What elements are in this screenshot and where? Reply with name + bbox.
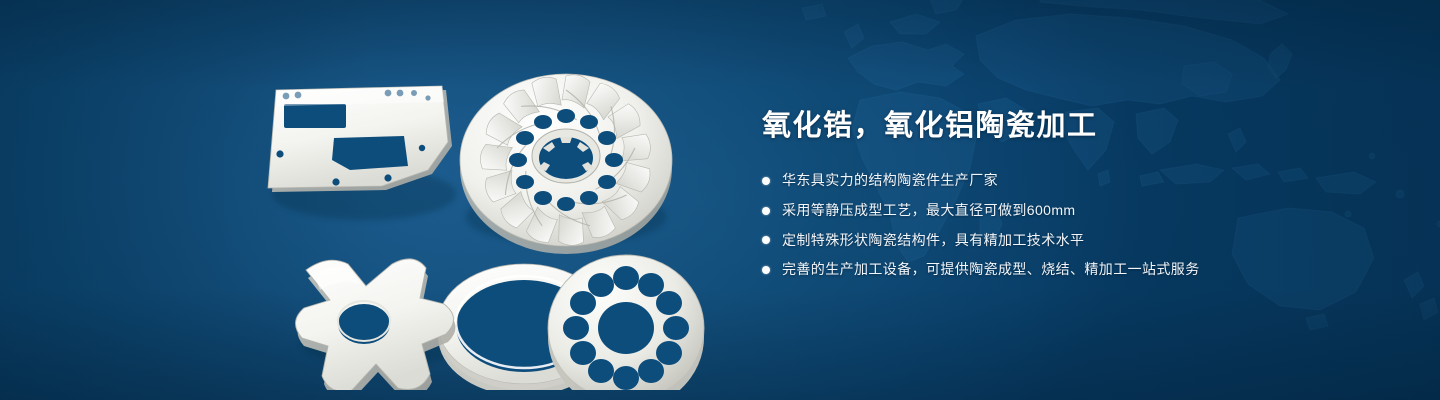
hero-banner: 氧化锆，氧化铝陶瓷加工 华东具实力的结构陶瓷件生产厂家 采用等静压成型工艺，最大… <box>0 0 1440 400</box>
list-item: 采用等静压成型工艺，最大直径可做到600mm <box>762 200 1322 222</box>
list-item: 华东具实力的结构陶瓷件生产厂家 <box>762 170 1322 192</box>
product-photo-collage <box>236 42 706 390</box>
bullet-dot-icon <box>762 177 770 185</box>
list-item-label: 定制特殊形状陶瓷结构件，具有精加工技术水平 <box>782 230 1084 252</box>
banner-copy: 氧化锆，氧化铝陶瓷加工 华东具实力的结构陶瓷件生产厂家 采用等静压成型工艺，最大… <box>762 108 1322 289</box>
list-item-label: 采用等静压成型工艺，最大直径可做到600mm <box>782 200 1075 222</box>
list-item: 完善的生产加工设备，可提供陶瓷成型、烧结、精加工一站式服务 <box>762 259 1322 281</box>
page-title: 氧化锆，氧化铝陶瓷加工 <box>762 108 1322 144</box>
bullet-dot-icon <box>762 207 770 215</box>
list-item-label: 完善的生产加工设备，可提供陶瓷成型、烧结、精加工一站式服务 <box>782 259 1200 281</box>
list-item: 定制特殊形状陶瓷结构件，具有精加工技术水平 <box>762 230 1322 252</box>
list-item-label: 华东具实力的结构陶瓷件生产厂家 <box>782 170 998 192</box>
feature-list: 华东具实力的结构陶瓷件生产厂家 采用等静压成型工艺，最大直径可做到600mm 定… <box>762 170 1322 281</box>
bullet-dot-icon <box>762 236 770 244</box>
bullet-dot-icon <box>762 266 770 274</box>
